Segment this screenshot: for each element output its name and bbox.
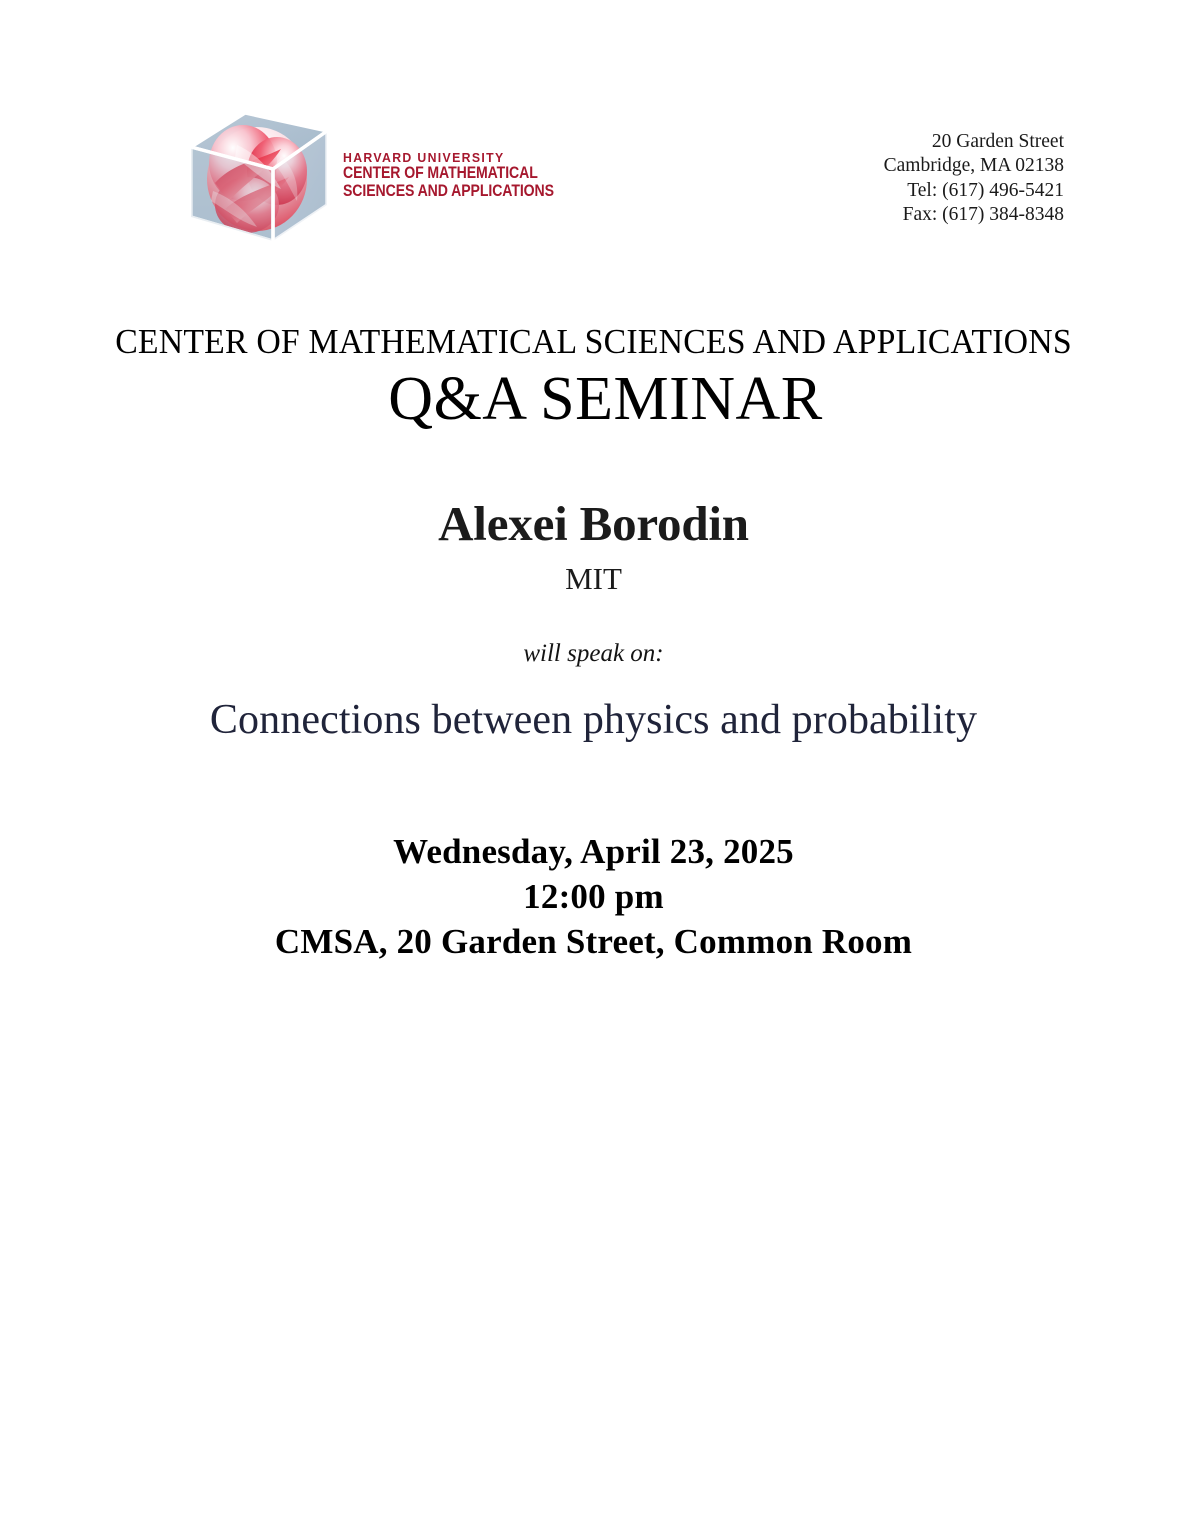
organization-heading: CENTER OF MATHEMATICAL SCIENCES AND APPL… (21, 324, 1166, 359)
wordmark-center-of-mathematical: CENTER OF MATHEMATICAL (343, 165, 526, 183)
address-fax: Fax: (617) 384-8348 (884, 203, 1064, 227)
contact-address-block: 20 Garden Street Cambridge, MA 02138 Tel… (884, 130, 1064, 228)
seminar-series-title: Q&A SEMINAR (0, 367, 1187, 432)
address-city-state-zip: Cambridge, MA 02138 (884, 154, 1064, 178)
will-speak-on-label: will speak on: (0, 640, 1187, 668)
wordmark-harvard-university: HARVARD UNIVERSITY (343, 151, 538, 165)
cmsa-cube-logo-icon (185, 105, 333, 250)
event-location: CMSA, 20 Garden Street, Common Room (0, 920, 1187, 965)
address-street: 20 Garden Street (884, 130, 1064, 154)
wordmark-sciences-and-applications: SCIENCES AND APPLICATIONS (343, 183, 526, 201)
speaker-name: Alexei Borodin (0, 498, 1187, 551)
address-telephone: Tel: (617) 496-5421 (884, 179, 1064, 203)
letterhead: HARVARD UNIVERSITY CENTER OF MATHEMATICA… (0, 100, 1187, 260)
cmsa-wordmark: HARVARD UNIVERSITY CENTER OF MATHEMATICA… (343, 151, 553, 201)
event-logistics: Wednesday, April 23, 2025 12:00 pm CMSA,… (0, 830, 1187, 964)
flyer-page: HARVARD UNIVERSITY CENTER OF MATHEMATICA… (0, 0, 1187, 1536)
speaker-affiliation: MIT (0, 562, 1187, 596)
event-date: Wednesday, April 23, 2025 (0, 830, 1187, 875)
event-time: 12:00 pm (0, 875, 1187, 920)
cmsa-logo: HARVARD UNIVERSITY CENTER OF MATHEMATICA… (185, 105, 555, 255)
talk-title: Connections between physics and probabil… (0, 697, 1187, 744)
